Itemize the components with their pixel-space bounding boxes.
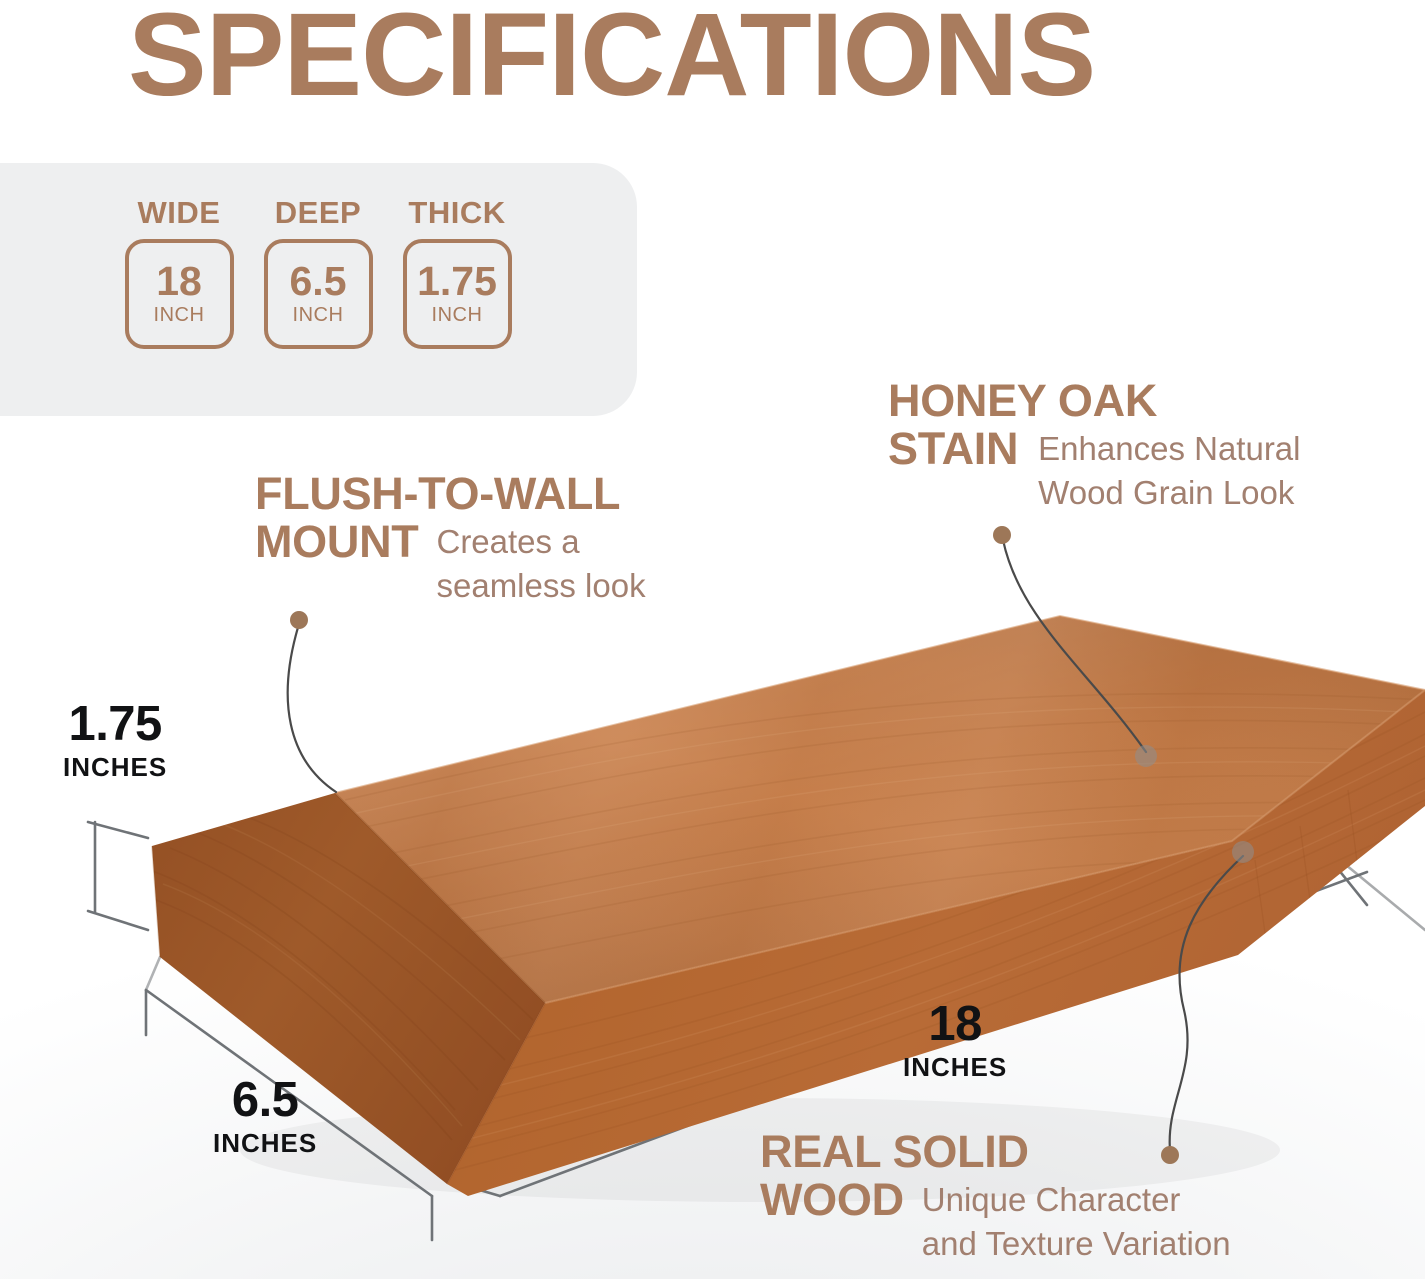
callout-flush-description-line1: Creates a: [436, 518, 645, 562]
dimension-unit-width: INCHES: [903, 1052, 1007, 1083]
callout-wood-description-line1: Unique Character: [922, 1176, 1231, 1220]
depth-extension-near: [146, 957, 160, 990]
callout-honey-oak-stain: HONEY OAK STAIN Enhances Natural Wood Gr…: [888, 377, 1301, 512]
dimension-value-thickness: 1.75: [63, 700, 167, 749]
callout-wood-description-line2: and Texture Variation: [922, 1220, 1231, 1264]
thickness-tick-bottom: [88, 911, 148, 930]
product-point-real-solid-wood: [1232, 841, 1254, 863]
product-point-honey-oak: [1135, 745, 1157, 767]
callout-honey-heading-line1: HONEY OAK: [888, 377, 1301, 425]
dimension-unit-thickness: INCHES: [63, 752, 167, 783]
anchor-dot-honey-oak: [993, 526, 1011, 544]
callout-honey-description-line2: Wood Grain Look: [1038, 469, 1300, 513]
callout-flush-description-line2: seamless look: [436, 562, 645, 606]
dimension-label-depth: 6.5 INCHES: [213, 1076, 317, 1159]
anchor-dot-flush-to-wall: [290, 611, 308, 629]
callout-honey-heading-line2: STAIN: [888, 425, 1018, 473]
leader-line-flush-to-wall: [288, 624, 336, 792]
dimension-unit-depth: INCHES: [213, 1128, 317, 1159]
thickness-tick-top: [88, 822, 148, 838]
callout-real-solid-wood: REAL SOLID WOOD Unique Character and Tex…: [760, 1128, 1231, 1263]
dimension-label-width: 18 INCHES: [903, 1000, 1007, 1083]
callout-flush-heading-line1: FLUSH-TO-WALL: [255, 470, 646, 518]
callout-wood-heading-line1: REAL SOLID: [760, 1128, 1231, 1176]
callout-flush-heading-line2: MOUNT: [255, 518, 418, 566]
callout-honey-description-line1: Enhances Natural: [1038, 425, 1300, 469]
infographic-root: SPECIFICATIONS WIDE 18 INCH DEEP 6.5 INC…: [0, 0, 1425, 1279]
callout-wood-heading-line2: WOOD: [760, 1176, 904, 1224]
dimension-label-thickness: 1.75 INCHES: [63, 700, 167, 783]
dimension-value-depth: 6.5: [213, 1076, 317, 1125]
dimension-value-width: 18: [903, 1000, 1007, 1049]
callout-flush-to-wall-mount: FLUSH-TO-WALL MOUNT Creates a seamless l…: [255, 470, 646, 605]
